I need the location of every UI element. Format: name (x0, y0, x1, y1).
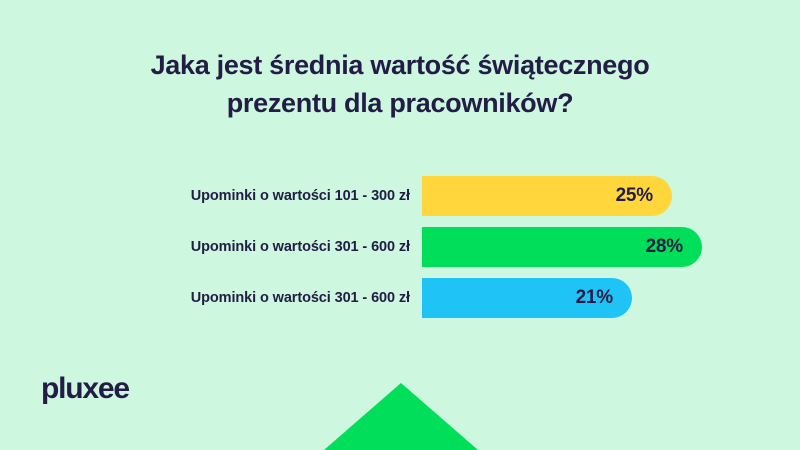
bar-track: 28% (422, 227, 722, 267)
page-title-line-2: prezentu dla pracowników? (0, 84, 800, 122)
page-title: Jaka jest średnia wartość świątecznego p… (0, 46, 800, 122)
bar-track: 21% (422, 278, 722, 318)
bar-fill: 28% (422, 227, 702, 267)
bar-value-label: 28% (646, 227, 683, 267)
infographic-canvas: Jaka jest średnia wartość świątecznego p… (0, 0, 800, 450)
bar-category-label: Upominki o wartości 301 - 600 zł (100, 278, 410, 318)
table-row: Upominki o wartości 101 - 300 zł 25% (0, 176, 800, 216)
table-row: Upominki o wartości 301 - 600 zł 21% (0, 278, 800, 318)
bar-category-label: Upominki o wartości 101 - 300 zł (100, 176, 410, 216)
brand-logo: pluxee (41, 374, 129, 404)
bar-value-label: 21% (576, 278, 613, 318)
bar-value-label: 25% (616, 176, 653, 216)
table-row: Upominki o wartości 301 - 600 zł 28% (0, 227, 800, 267)
bar-category-label: Upominki o wartości 301 - 600 zł (100, 227, 410, 267)
bar-track: 25% (422, 176, 722, 216)
triangle-decoration-icon (324, 383, 478, 450)
bar-fill: 25% (422, 176, 672, 216)
bar-fill: 21% (422, 278, 632, 318)
bar-chart: Upominki o wartości 101 - 300 zł 25% Upo… (0, 176, 800, 318)
page-title-line-1: Jaka jest średnia wartość świątecznego (0, 46, 800, 84)
